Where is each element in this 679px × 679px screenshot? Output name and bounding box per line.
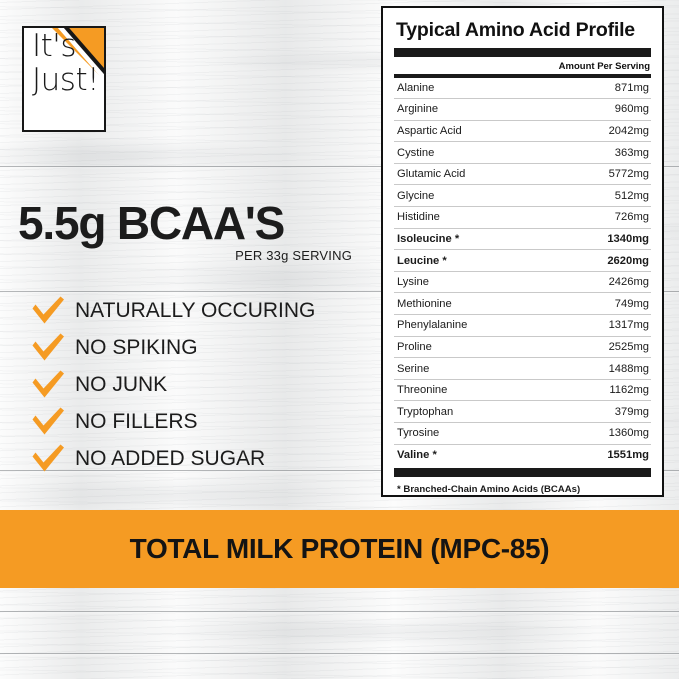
amino-acid-row: Lysine2426mg <box>394 272 651 294</box>
amino-acid-panel: Typical Amino Acid Profile Amount Per Se… <box>381 6 664 497</box>
panel-footer-bar <box>394 468 651 477</box>
amino-acid-name: Arginine <box>397 103 438 115</box>
benefit-item: NO FILLERS <box>30 403 370 440</box>
product-infographic: It's Just! 5.5g BCAA'S PER 33g SERVING N… <box>0 0 679 679</box>
check-icon <box>30 407 66 437</box>
plank-seam <box>0 611 679 612</box>
benefit-label: NO JUNK <box>75 373 167 397</box>
amino-acid-row: Valine *1551mg <box>394 445 651 466</box>
benefits-list: NATURALLY OCCURINGNO SPIKINGNO JUNKNO FI… <box>30 292 370 477</box>
amino-acid-row: Tryptophan379mg <box>394 401 651 423</box>
amino-acid-amount: 363mg <box>615 147 649 159</box>
panel-header-bar <box>394 48 651 57</box>
amino-acid-row: Arginine960mg <box>394 99 651 121</box>
benefit-label: NO ADDED SUGAR <box>75 447 265 471</box>
amino-acid-name: Glutamic Acid <box>397 168 465 180</box>
amino-acid-name: Tryptophan <box>397 406 453 418</box>
amino-acid-name: Threonine <box>397 384 447 396</box>
panel-title: Typical Amino Acid Profile <box>396 19 651 42</box>
panel-footnote: * Branched-Chain Amino Acids (BCAAs) <box>394 477 651 495</box>
amino-acid-amount: 1162mg <box>609 384 649 396</box>
amino-acid-amount: 960mg <box>615 103 649 115</box>
amino-acid-name: Histidine <box>397 211 440 223</box>
amino-acid-name: Cystine <box>397 147 434 159</box>
check-icon <box>30 444 66 474</box>
amino-acid-amount: 512mg <box>615 190 649 202</box>
amino-acid-name: Serine <box>397 363 429 375</box>
logo-wordmark: It's Just! <box>32 32 99 96</box>
logo-line-2: Just! <box>32 66 99 96</box>
amino-acid-name: Valine * <box>397 449 437 461</box>
amino-acid-amount: 379mg <box>615 406 649 418</box>
amino-acid-amount: 1340mg <box>607 233 649 245</box>
amino-acid-name: Methionine <box>397 298 452 310</box>
amino-acid-amount: 726mg <box>615 211 649 223</box>
amino-acid-row: Isoleucine *1340mg <box>394 229 651 251</box>
amino-acid-name: Glycine <box>397 190 434 202</box>
amino-acid-amount: 1488mg <box>609 363 649 375</box>
amino-acid-amount: 5772mg <box>609 168 649 180</box>
amino-acid-amount: 749mg <box>615 298 649 310</box>
amino-acid-name: Leucine * <box>397 255 447 267</box>
banner-label: TOTAL MILK PROTEIN (MPC-85) <box>130 533 550 565</box>
amino-acid-row: Tyrosine1360mg <box>394 423 651 445</box>
amino-acid-row: Threonine1162mg <box>394 380 651 402</box>
amino-acid-row: Glycine512mg <box>394 185 651 207</box>
check-icon <box>30 333 66 363</box>
amino-acid-row: Alanine871mg <box>394 78 651 100</box>
benefit-item: NO SPIKING <box>30 329 370 366</box>
benefit-item: NATURALLY OCCURING <box>30 292 370 329</box>
logo-line-1: It's <box>32 32 99 62</box>
amino-acid-amount: 871mg <box>615 82 649 94</box>
amino-acid-amount: 2525mg <box>609 341 649 353</box>
amino-acid-row: Cystine363mg <box>394 142 651 164</box>
amino-acid-name: Alanine <box>397 82 434 94</box>
benefit-item: NO ADDED SUGAR <box>30 440 370 477</box>
benefit-item: NO JUNK <box>30 366 370 403</box>
amino-acid-name: Proline <box>397 341 432 353</box>
amino-acid-rows: Alanine871mgArginine960mgAspartic Acid20… <box>394 78 651 466</box>
check-icon <box>30 370 66 400</box>
amino-acid-row: Aspartic Acid2042mg <box>394 121 651 143</box>
product-banner: TOTAL MILK PROTEIN (MPC-85) <box>0 510 679 588</box>
amino-acid-amount: 2042mg <box>609 125 649 137</box>
amino-acid-row: Histidine726mg <box>394 207 651 229</box>
benefit-label: NO SPIKING <box>75 336 198 360</box>
amino-acid-row: Glutamic Acid5772mg <box>394 164 651 186</box>
amino-acid-row: Serine1488mg <box>394 358 651 380</box>
benefit-label: NO FILLERS <box>75 410 198 434</box>
brand-logo: It's Just! <box>22 26 106 132</box>
amount-per-serving-header: Amount Per Serving <box>394 59 651 74</box>
amino-acid-amount: 1551mg <box>607 449 649 461</box>
check-icon <box>30 296 66 326</box>
amino-acid-name: Tyrosine <box>397 427 439 439</box>
amino-acid-amount: 2620mg <box>607 255 649 267</box>
benefit-label: NATURALLY OCCURING <box>75 299 315 323</box>
amino-acid-row: Proline2525mg <box>394 337 651 359</box>
amino-acid-amount: 1360mg <box>609 427 649 439</box>
plank-seam <box>0 653 679 654</box>
amino-acid-name: Phenylalanine <box>397 319 467 331</box>
amino-acid-amount: 1317mg <box>609 319 649 331</box>
amino-acid-amount: 2426mg <box>609 276 649 288</box>
headline-serving-note: PER 33g SERVING <box>18 248 352 263</box>
headline-bcaa: 5.5g BCAA'S <box>18 196 284 250</box>
amino-acid-name: Lysine <box>397 276 429 288</box>
amino-acid-name: Aspartic Acid <box>397 125 462 137</box>
amino-acid-row: Leucine *2620mg <box>394 250 651 272</box>
amino-acid-name: Isoleucine * <box>397 233 459 245</box>
amino-acid-row: Phenylalanine1317mg <box>394 315 651 337</box>
amino-acid-row: Methionine749mg <box>394 293 651 315</box>
